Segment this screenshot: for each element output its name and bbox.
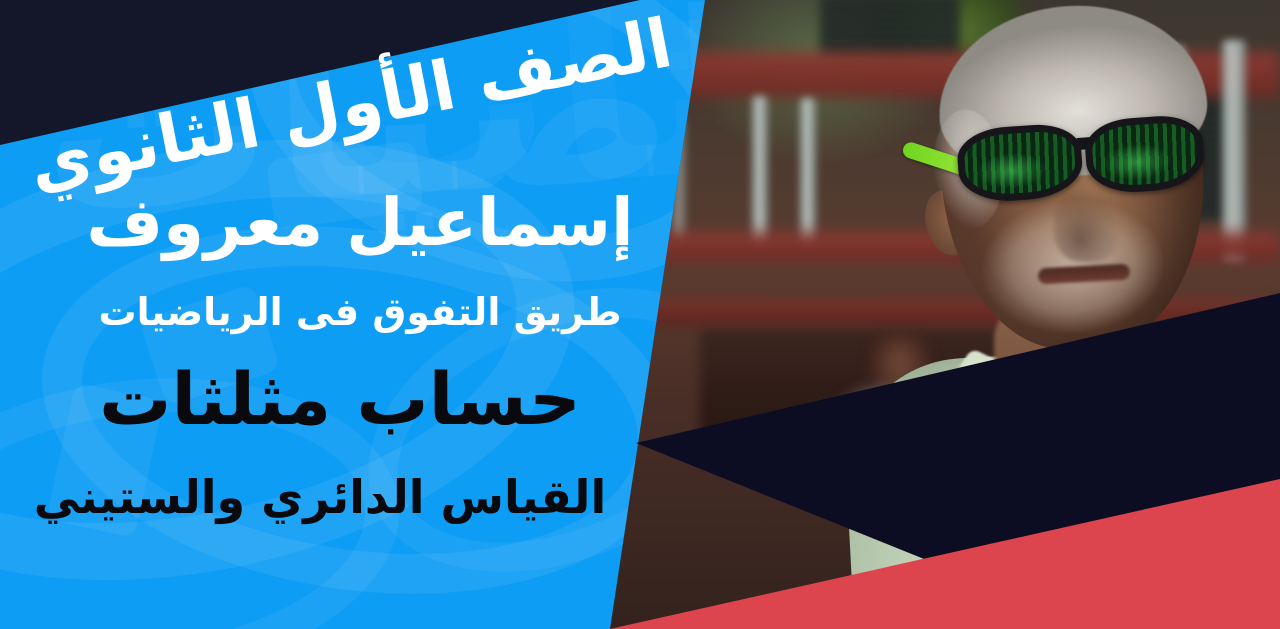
tagline: طريق التفوق فى الرياضيات [80, 292, 640, 334]
lesson-subtitle: القياس الدائري والستيني [30, 472, 610, 523]
background-baluster [752, 96, 768, 246]
course-thumbnail: مثلثات الرياضيات الصف الأول الثانوي إسما… [0, 0, 1280, 629]
background-baluster [800, 98, 816, 246]
subject-title: حساب مثلثات [60, 362, 620, 438]
sunglasses-lens-right [1083, 113, 1206, 195]
sunglasses-lens-left [956, 122, 1085, 204]
teacher-name: إسماعيل معروف [80, 188, 640, 257]
